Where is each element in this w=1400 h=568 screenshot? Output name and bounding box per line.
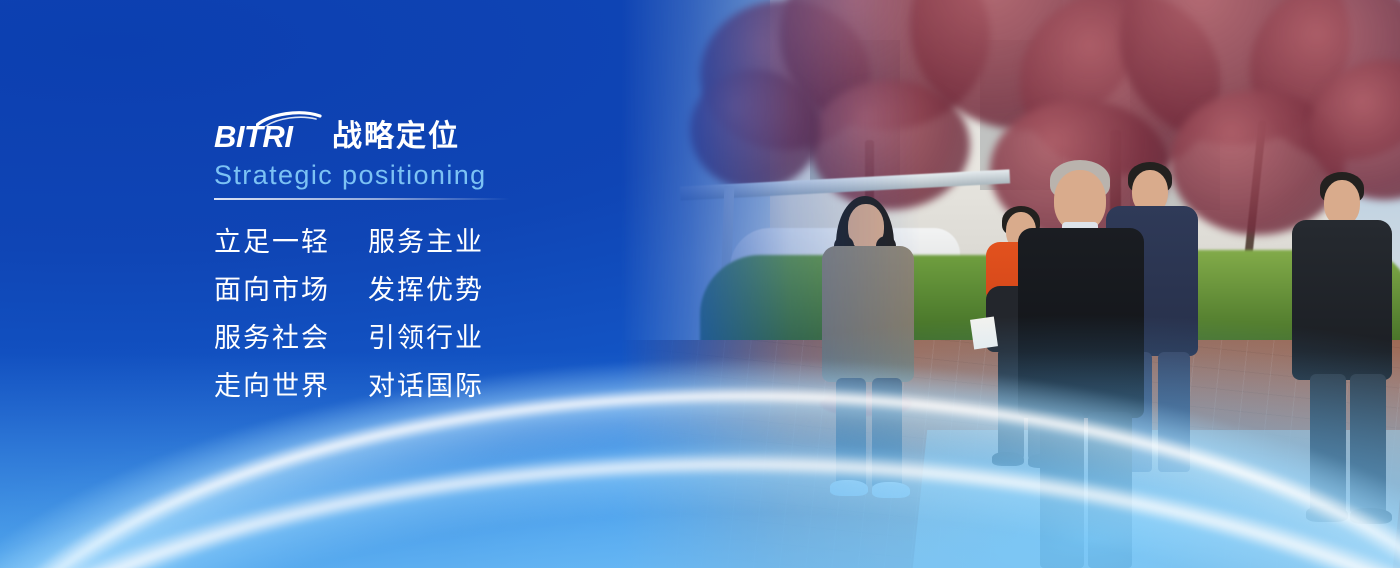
slogan-row: 走向世界 对话国际 [214, 362, 634, 410]
slogan-right: 引领行业 [368, 314, 484, 362]
slogan-left: 服务社会 [214, 314, 350, 362]
slogan-left: 面向市场 [214, 266, 350, 314]
heading-chinese: 战略定位 [332, 120, 460, 154]
slogan-right: 发挥优势 [368, 266, 484, 314]
slogan-row: 服务社会 引领行业 [214, 314, 634, 362]
headline-text-block: BITRI 战略定位 Strategic positioning 立足一轻 服务… [214, 110, 634, 410]
slogan-left: 立足一轻 [214, 218, 350, 266]
slogan-right: 对话国际 [368, 362, 484, 410]
slogan-left: 走向世界 [214, 362, 350, 410]
divider-rule [214, 198, 510, 200]
bottom-sheen [0, 268, 1400, 568]
heading-english: Strategic positioning [214, 160, 634, 191]
slogan-right: 服务主业 [368, 218, 484, 266]
title-row: BITRI 战略定位 [214, 110, 634, 154]
bitri-logo[interactable]: BITRI [214, 120, 318, 154]
slogan-list: 立足一轻 服务主业 面向市场 发挥优势 服务社会 引领行业 走向世界 对话国际 [214, 218, 634, 410]
strategic-positioning-banner: BITRI 战略定位 Strategic positioning 立足一轻 服务… [0, 0, 1400, 568]
slogan-row: 面向市场 发挥优势 [214, 266, 634, 314]
slogan-row: 立足一轻 服务主业 [214, 218, 634, 266]
swoosh-arc-icon [256, 111, 322, 127]
